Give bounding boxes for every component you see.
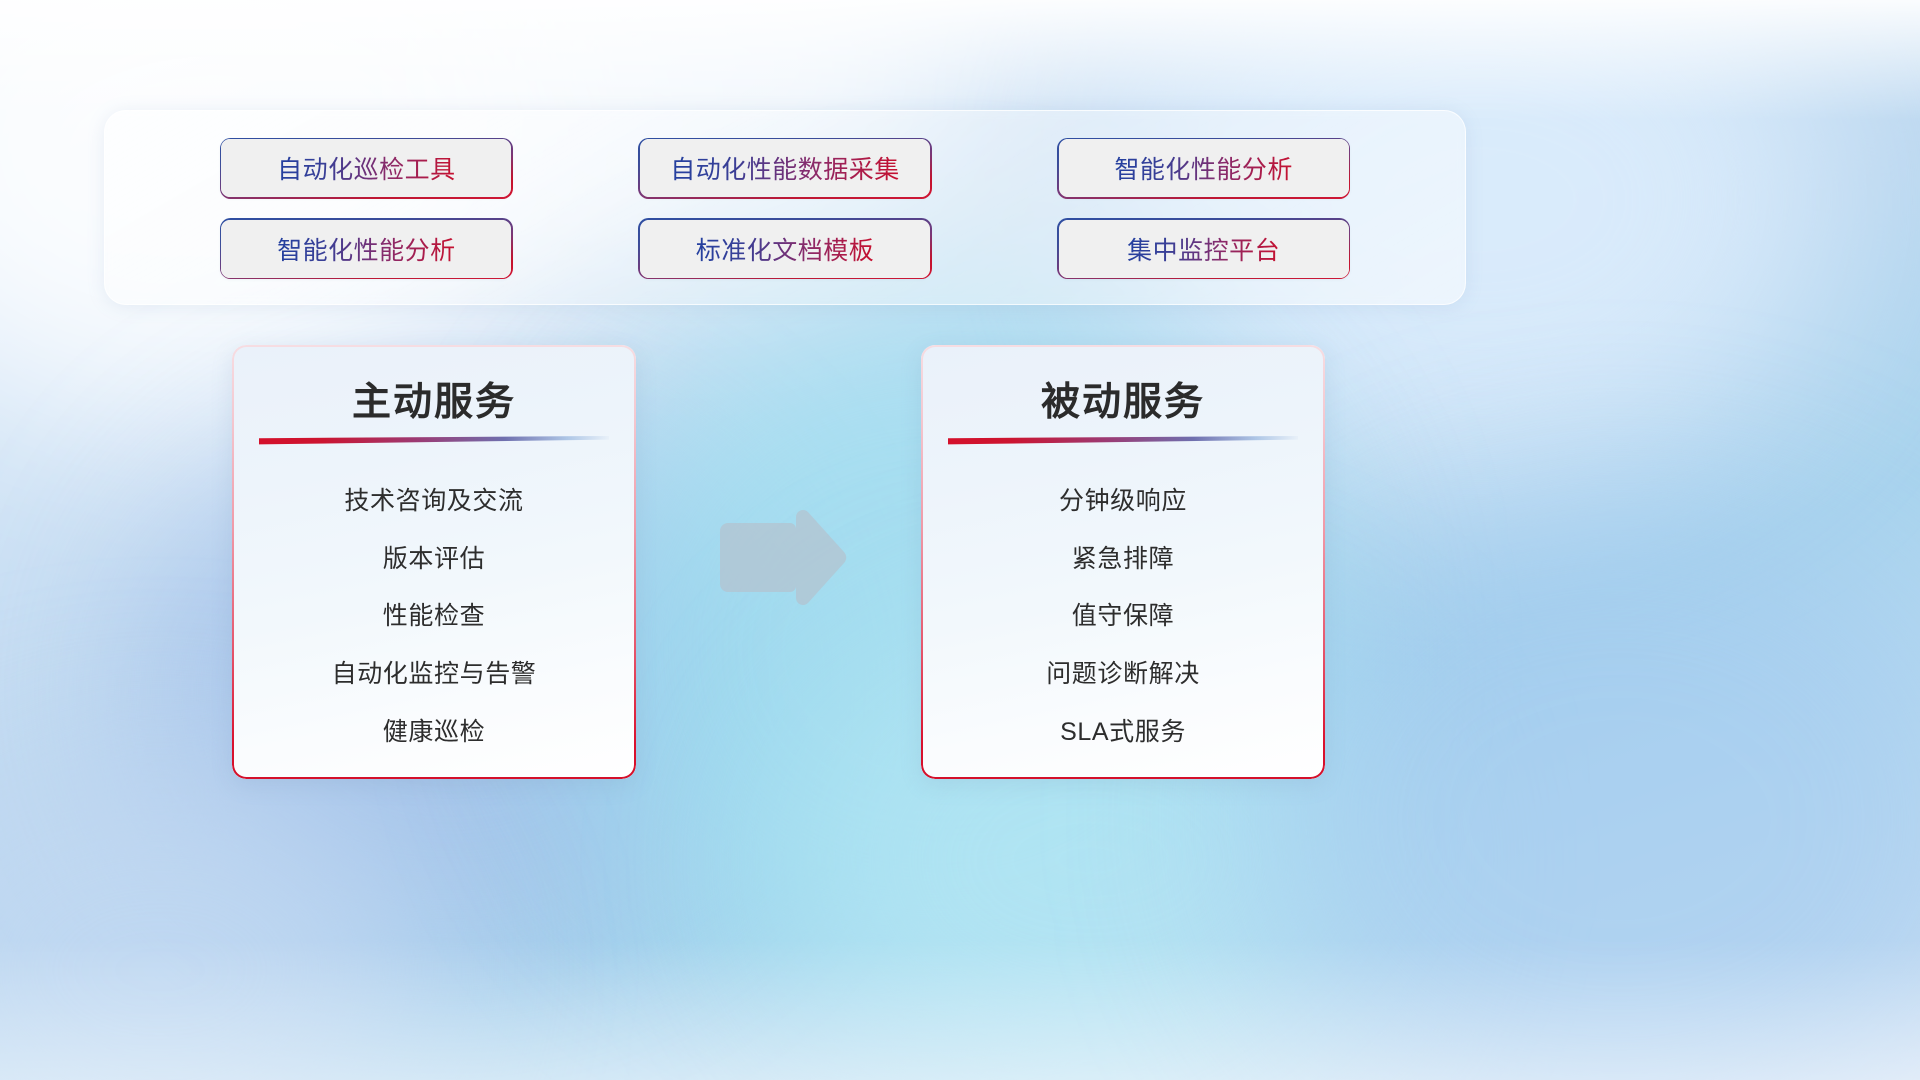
list-item: 紧急排障 bbox=[1072, 539, 1174, 575]
list-item: 性能检查 bbox=[383, 596, 485, 632]
capabilities-panel: 自动化巡检工具 自动化性能数据采集 智能化性能分析 智能化性能分析 标准化文档模… bbox=[104, 110, 1466, 305]
capability-pill[interactable]: 集中监控平台 bbox=[1059, 220, 1349, 278]
card-passive-service[interactable]: 被动服务 分钟级响应 紧急排障 值守保障 bbox=[921, 345, 1325, 779]
capability-pill[interactable]: 自动化性能数据采集 bbox=[640, 139, 930, 197]
card-title: 主动服务 bbox=[232, 371, 636, 427]
list-item: 自动化监控与告警 bbox=[332, 654, 537, 690]
card-divider bbox=[948, 436, 1298, 445]
list-item: 分钟级响应 bbox=[1059, 481, 1187, 517]
capability-pill-label: 标准化文档模板 bbox=[696, 231, 875, 267]
card-active-service[interactable]: 主动服务 技术咨询及交流 版本评估 性能检查 bbox=[232, 345, 636, 779]
list-item: 版本评估 bbox=[383, 539, 485, 575]
flow-arrow-icon bbox=[718, 505, 848, 610]
capability-pill-label: 智能化性能分析 bbox=[1114, 150, 1293, 186]
capability-pill-label: 集中监控平台 bbox=[1127, 231, 1280, 267]
list-item: 技术咨询及交流 bbox=[344, 481, 523, 517]
card-title: 被动服务 bbox=[921, 371, 1325, 427]
capability-pill-label: 自动化巡检工具 bbox=[277, 150, 456, 186]
capability-pill[interactable]: 智能化性能分析 bbox=[221, 220, 511, 278]
capabilities-grid: 自动化巡检工具 自动化性能数据采集 智能化性能分析 智能化性能分析 标准化文档模… bbox=[105, 111, 1465, 304]
slide-stage: 自动化巡检工具 自动化性能数据采集 智能化性能分析 智能化性能分析 标准化文档模… bbox=[0, 0, 1920, 1080]
capability-pill-label: 智能化性能分析 bbox=[277, 231, 456, 267]
list-item: 值守保障 bbox=[1072, 596, 1174, 632]
capability-pill[interactable]: 自动化巡检工具 bbox=[221, 139, 511, 197]
list-item: 健康巡检 bbox=[383, 712, 485, 748]
card-item-list: 分钟级响应 紧急排障 值守保障 问题诊断解决 SLA式服务 bbox=[921, 470, 1325, 759]
card-item-list: 技术咨询及交流 版本评估 性能检查 自动化监控与告警 健康巡检 bbox=[232, 470, 636, 759]
capability-pill[interactable]: 标准化文档模板 bbox=[640, 220, 930, 278]
card-divider bbox=[259, 436, 609, 445]
capability-pill-label: 自动化性能数据采集 bbox=[670, 150, 900, 186]
list-item: SLA式服务 bbox=[1060, 712, 1186, 748]
list-item: 问题诊断解决 bbox=[1046, 654, 1200, 690]
capability-pill[interactable]: 智能化性能分析 bbox=[1059, 139, 1349, 197]
